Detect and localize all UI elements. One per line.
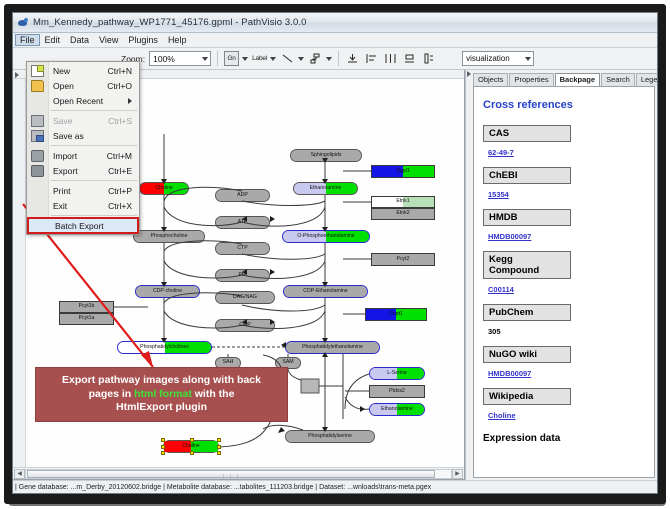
- file-menu-dropdown: NewCtrl+NOpenCtrl+OOpen RecentSaveCtrl+S…: [26, 61, 140, 235]
- file-menu-separator: [51, 145, 137, 146]
- pathway-node-label: DAG/NAG: [233, 295, 257, 300]
- pathway-node-etnk1[interactable]: Etnk1: [371, 196, 435, 208]
- pathway-node-label: Phosphatidylserine: [308, 434, 352, 439]
- cross-references-title: Cross references: [483, 99, 645, 111]
- scroll-thumb[interactable]: ⋮⋮⋮: [27, 470, 435, 478]
- tab-legend[interactable]: Legend: [636, 73, 658, 86]
- pathway-node-phosphatidylcholines[interactable]: Phosphatidylcholines: [117, 341, 212, 354]
- selection-handle[interactable]: [161, 451, 165, 455]
- toolbar-separator-2: [338, 51, 339, 66]
- tab-search[interactable]: Search: [601, 73, 635, 86]
- file-menu-item-accelerator: Ctrl+N: [108, 66, 132, 76]
- menu-bar: File Edit Data View Plugins Help: [13, 33, 657, 48]
- scroll-right-button[interactable]: ▶: [452, 469, 463, 479]
- file-menu-item-label: Print: [53, 186, 70, 196]
- chevron-down-icon: [202, 57, 208, 61]
- pathway-node-l-serine[interactable]: L-Serine: [369, 367, 425, 380]
- pathway-node-label: Etnk2: [396, 211, 409, 216]
- pathway-node-label: PPi: [238, 273, 246, 278]
- status-bar-text: | Gene database: ...m_Derby_20120602.bri…: [15, 484, 431, 491]
- file-menu-separator: [51, 110, 137, 111]
- pathway-node-label: Phosphocholine: [151, 234, 188, 239]
- export-icon: [31, 165, 44, 177]
- selection-handle[interactable]: [217, 438, 221, 442]
- line-tool-button[interactable]: [280, 51, 295, 66]
- pathway-node-o-phosphoethanolamine[interactable]: O-Phosphoethanolamine: [282, 230, 370, 243]
- label-button-label: Label: [252, 55, 267, 62]
- pathway-node-label: SAH: [223, 360, 234, 365]
- callout-line2-highlight: html format: [134, 388, 192, 400]
- pathway-node-dag-nag[interactable]: DAG/NAG: [215, 291, 275, 304]
- pathway-node-ptdss2[interactable]: Ptdss2: [369, 385, 425, 398]
- side-panel-tabs: Objects Properties Backpage Search Legen…: [466, 70, 657, 86]
- file-menu-item-accelerator: Ctrl+O: [107, 81, 132, 91]
- cross-reference-group: CAS62-49-7: [483, 125, 645, 160]
- menu-help[interactable]: Help: [163, 34, 192, 46]
- pathway-node-label: Etnk1: [396, 199, 409, 204]
- file-menu-item-accelerator: Ctrl+E: [108, 166, 132, 176]
- cross-reference-value: 305: [488, 327, 501, 336]
- pathway-node-label: L-Serine: [387, 371, 407, 376]
- pathway-node-sgpl1[interactable]: Sgpl1: [371, 165, 435, 178]
- pathway-node-label: CDP-Ethanolamine: [303, 289, 347, 294]
- line-dropdown-chevron-icon[interactable]: [298, 57, 304, 61]
- pathway-node-cmp[interactable]: CMP: [215, 319, 275, 332]
- file-menu-item-label: New: [53, 66, 70, 76]
- file-menu-item-accelerator: Ctrl+P: [108, 186, 132, 196]
- annotation-callout: Export pathway images along with back pa…: [35, 367, 288, 422]
- file-menu-item-accelerator: Ctrl+X: [108, 201, 132, 211]
- new-document-icon: [31, 65, 44, 77]
- pathvisio-icon: [17, 17, 29, 29]
- toolbar-separator: [217, 51, 218, 66]
- gene-product-button[interactable]: Gn: [224, 51, 239, 66]
- file-menu-item-label: Open: [53, 81, 74, 91]
- callout-line2-b: with the: [192, 388, 235, 400]
- cross-reference-group: PubChem305: [483, 304, 645, 339]
- file-menu-item-batch-export[interactable]: Batch Export: [28, 218, 138, 233]
- selection-handle[interactable]: [161, 445, 165, 449]
- file-menu-item-label: Save: [53, 116, 72, 126]
- scroll-grip-icon: ⋮⋮⋮: [221, 474, 242, 481]
- file-menu-item-print[interactable]: PrintCtrl+P: [27, 183, 139, 198]
- gene-dropdown-chevron-icon[interactable]: [242, 57, 248, 61]
- file-menu-item-label: Import: [53, 151, 77, 161]
- tab-properties[interactable]: Properties: [509, 73, 553, 86]
- visualization-combobox[interactable]: visualization: [462, 51, 534, 66]
- selection-handle[interactable]: [190, 451, 194, 455]
- title-bar: Mm_Kennedy_pathway_WP1771_45176.gpml - P…: [13, 13, 657, 33]
- cross-reference-source-name: NuGO wiki: [483, 346, 571, 363]
- scroll-left-button[interactable]: ◀: [14, 469, 25, 479]
- callout-line3: HtmlExport plugin: [116, 401, 207, 413]
- pathway-node-phosphocholine[interactable]: Phosphocholine: [133, 230, 205, 243]
- pathway-node-label: Ethanolamine: [381, 407, 413, 412]
- cross-reference-link[interactable]: HMDB00097: [488, 232, 531, 241]
- file-menu-item-import[interactable]: ImportCtrl+M: [27, 148, 139, 163]
- align-center-button[interactable]: [383, 51, 398, 66]
- pathway-node-pcyt2[interactable]: Pcyt2: [371, 253, 435, 266]
- file-menu-item-open-recent[interactable]: Open Recent: [27, 93, 139, 108]
- file-menu-items: NewCtrl+NOpenCtrl+OOpen RecentSaveCtrl+S…: [27, 63, 139, 233]
- pathway-node-label: ADP: [237, 193, 248, 198]
- pathway-node-sphingolipids[interactable]: Sphingolipids: [290, 149, 362, 162]
- file-menu-item-exit[interactable]: ExitCtrl+X: [27, 198, 139, 213]
- file-menu-item-label: Open Recent: [53, 96, 103, 106]
- callout-line1: Export pathway images along with back: [62, 374, 261, 386]
- cross-reference-link[interactable]: Choline: [488, 411, 516, 420]
- submenu-chevron-icon: [128, 98, 132, 104]
- pathway-node-choline-top[interactable]: Choline: [139, 182, 189, 195]
- selection-handle[interactable]: [217, 451, 221, 455]
- pathway-node-label: Choline: [155, 186, 173, 191]
- file-menu-item-label: Export: [53, 166, 78, 176]
- pathway-node-label: Ethanolamine: [310, 186, 342, 191]
- visualization-value: visualization: [466, 54, 510, 63]
- gene-button-label: Gn: [227, 55, 235, 62]
- file-menu-item-save-as[interactable]: Save as: [27, 128, 139, 143]
- pathway-node-cdp-choline[interactable]: CDP-choline: [135, 285, 200, 298]
- menu-file[interactable]: File: [15, 34, 40, 46]
- chevron-down-icon: [525, 57, 531, 61]
- pathway-node-label: Choline: [182, 444, 200, 449]
- cross-reference-list: CAS62-49-7ChEBI15354HMDBHMDB00097Kegg Co…: [483, 125, 645, 423]
- file-menu-item-label: Exit: [53, 201, 67, 211]
- cross-reference-group: HMDBHMDB00097: [483, 209, 645, 244]
- cross-reference-source-name: HMDB: [483, 209, 571, 226]
- pathway-node-ctp[interactable]: CTP: [215, 242, 270, 255]
- callout-line2-a: pages in: [89, 388, 135, 400]
- file-menu-separator: [51, 180, 137, 181]
- pathvisio-application-window: Mm_Kennedy_pathway_WP1771_45176.gpml - P…: [12, 12, 658, 494]
- pathway-node-ethanolamine-right[interactable]: Ethanolamine: [369, 403, 425, 416]
- file-menu-item-accelerator: Ctrl+S: [108, 116, 132, 126]
- pathway-node-etnk2[interactable]: Etnk2: [371, 208, 435, 220]
- pathway-node-ethanolamine-top[interactable]: Ethanolamine: [293, 182, 358, 195]
- group-button[interactable]: [421, 51, 436, 66]
- scroll-track[interactable]: ⋮⋮⋮: [25, 469, 452, 479]
- cross-reference-source-name: ChEBI: [483, 167, 571, 184]
- pathway-node-label: CMP: [239, 323, 251, 328]
- window-title: Mm_Kennedy_pathway_WP1771_45176.gpml - P…: [33, 17, 307, 28]
- distribute-button[interactable]: [402, 51, 417, 66]
- cross-reference-link[interactable]: C00114: [488, 285, 514, 294]
- menu-view[interactable]: View: [94, 34, 123, 46]
- selection-handle[interactable]: [217, 445, 221, 449]
- zoom-combobox[interactable]: 100%: [149, 51, 211, 66]
- file-menu-item-open[interactable]: OpenCtrl+O: [27, 78, 139, 93]
- expression-data-title: Expression data: [483, 433, 645, 444]
- cross-reference-link[interactable]: 62-49-7: [488, 148, 514, 157]
- pathway-node-label: Ptdss2: [389, 389, 405, 394]
- save-as-icon: [31, 130, 44, 142]
- pathway-node-adp[interactable]: ADP: [215, 189, 270, 202]
- pathway-node-pcyt1a[interactable]: Pcyt1a: [59, 313, 114, 325]
- file-menu-item-export[interactable]: ExportCtrl+E: [27, 163, 139, 178]
- file-menu-item-label: Save as: [53, 131, 84, 141]
- zoom-value: 100%: [153, 54, 175, 64]
- screenshot-root: Mm_Kennedy_pathway_WP1771_45176.gpml - P…: [0, 0, 670, 509]
- cross-reference-group: NuGO wikiHMDB00097: [483, 346, 645, 381]
- cross-reference-group: WikipediaCholine: [483, 388, 645, 423]
- selection-handle[interactable]: [190, 438, 194, 442]
- pathway-node-ppi[interactable]: PPi: [215, 269, 270, 282]
- open-folder-icon: [31, 80, 44, 92]
- pathway-node-label: ATP: [238, 220, 248, 225]
- pathway-node-label: Pcyt2: [397, 257, 410, 262]
- tab-backpage[interactable]: Backpage: [555, 73, 600, 87]
- label-tool-button[interactable]: Label: [252, 51, 267, 66]
- cross-reference-link[interactable]: 15354: [488, 190, 509, 199]
- backpage-content: Cross references CAS62-49-7ChEBI15354HMD…: [473, 86, 655, 478]
- menu-plugins[interactable]: Plugins: [123, 34, 163, 46]
- pathway-node-cdp-ethanolamine[interactable]: CDP-Ethanolamine: [283, 285, 368, 298]
- file-menu-separator: [51, 215, 137, 216]
- pathway-node-atp[interactable]: ATP: [215, 216, 270, 229]
- cross-reference-source-name: CAS: [483, 125, 571, 142]
- align-top-button[interactable]: [345, 51, 360, 66]
- file-menu-item-label: Batch Export: [55, 221, 104, 231]
- selection-handle[interactable]: [161, 438, 165, 442]
- pathway-node-label: CDP-choline: [153, 289, 182, 294]
- save-disk-icon: [31, 115, 44, 127]
- pathway-node-label: Phosphatidylcholines: [140, 345, 189, 350]
- shape-dropdown-chevron-icon[interactable]: [326, 57, 332, 61]
- pathway-node-label: O-Phosphoethanolamine: [297, 234, 354, 239]
- pathway-node-choline-bottom[interactable]: Choline: [163, 440, 219, 453]
- pathway-node-label: Sgpl1: [396, 169, 409, 174]
- pathway-node-cept1[interactable]: Cept1: [365, 308, 427, 321]
- cross-reference-source-name: Kegg Compound: [483, 251, 571, 279]
- pathway-node-label: Cept1: [389, 312, 403, 317]
- canvas-horizontal-scrollbar[interactable]: ◀ ⋮⋮⋮ ▶: [13, 467, 464, 479]
- shape-tool-button[interactable]: [308, 51, 323, 66]
- import-icon: [31, 150, 44, 162]
- pathway-node-label: Phosphatidylethanolamine: [302, 345, 363, 350]
- pathway-node-label: Sphingolipids: [311, 153, 342, 158]
- menu-data[interactable]: Data: [65, 34, 94, 46]
- pathway-node-label: Pcyt1b: [79, 304, 95, 309]
- label-dropdown-chevron-icon[interactable]: [270, 57, 276, 61]
- file-menu-item-save: SaveCtrl+S: [27, 113, 139, 128]
- pathway-node-phosphatidylserine[interactable]: Phosphatidylserine: [285, 430, 375, 443]
- canvas-left-rail: [13, 79, 26, 467]
- cross-reference-group: ChEBI15354: [483, 167, 645, 202]
- cross-reference-group: Kegg CompoundC00114: [483, 251, 645, 297]
- cross-reference-link[interactable]: HMDB00097: [488, 369, 531, 378]
- pathway-node-pcyt1b[interactable]: Pcyt1b: [59, 301, 114, 313]
- file-menu-item-accelerator: Ctrl+M: [107, 151, 132, 161]
- pathway-node-phosphatidylethanolamine[interactable]: Phosphatidylethanolamine: [285, 341, 380, 354]
- pathway-node-label: SAM: [282, 360, 293, 365]
- tab-objects[interactable]: Objects: [473, 73, 508, 86]
- pathway-node-label: Pcyt1a: [79, 316, 95, 321]
- cross-reference-source-name: Wikipedia: [483, 388, 571, 405]
- pathway-node-label: CTP: [237, 246, 247, 251]
- file-menu-item-new[interactable]: NewCtrl+N: [27, 63, 139, 78]
- status-bar: | Gene database: ...m_Derby_20120602.bri…: [13, 480, 657, 493]
- cross-reference-source-name: PubChem: [483, 304, 571, 321]
- align-left-button[interactable]: [364, 51, 379, 66]
- side-panel: Objects Properties Backpage Search Legen…: [465, 70, 657, 480]
- menu-edit[interactable]: Edit: [40, 34, 66, 46]
